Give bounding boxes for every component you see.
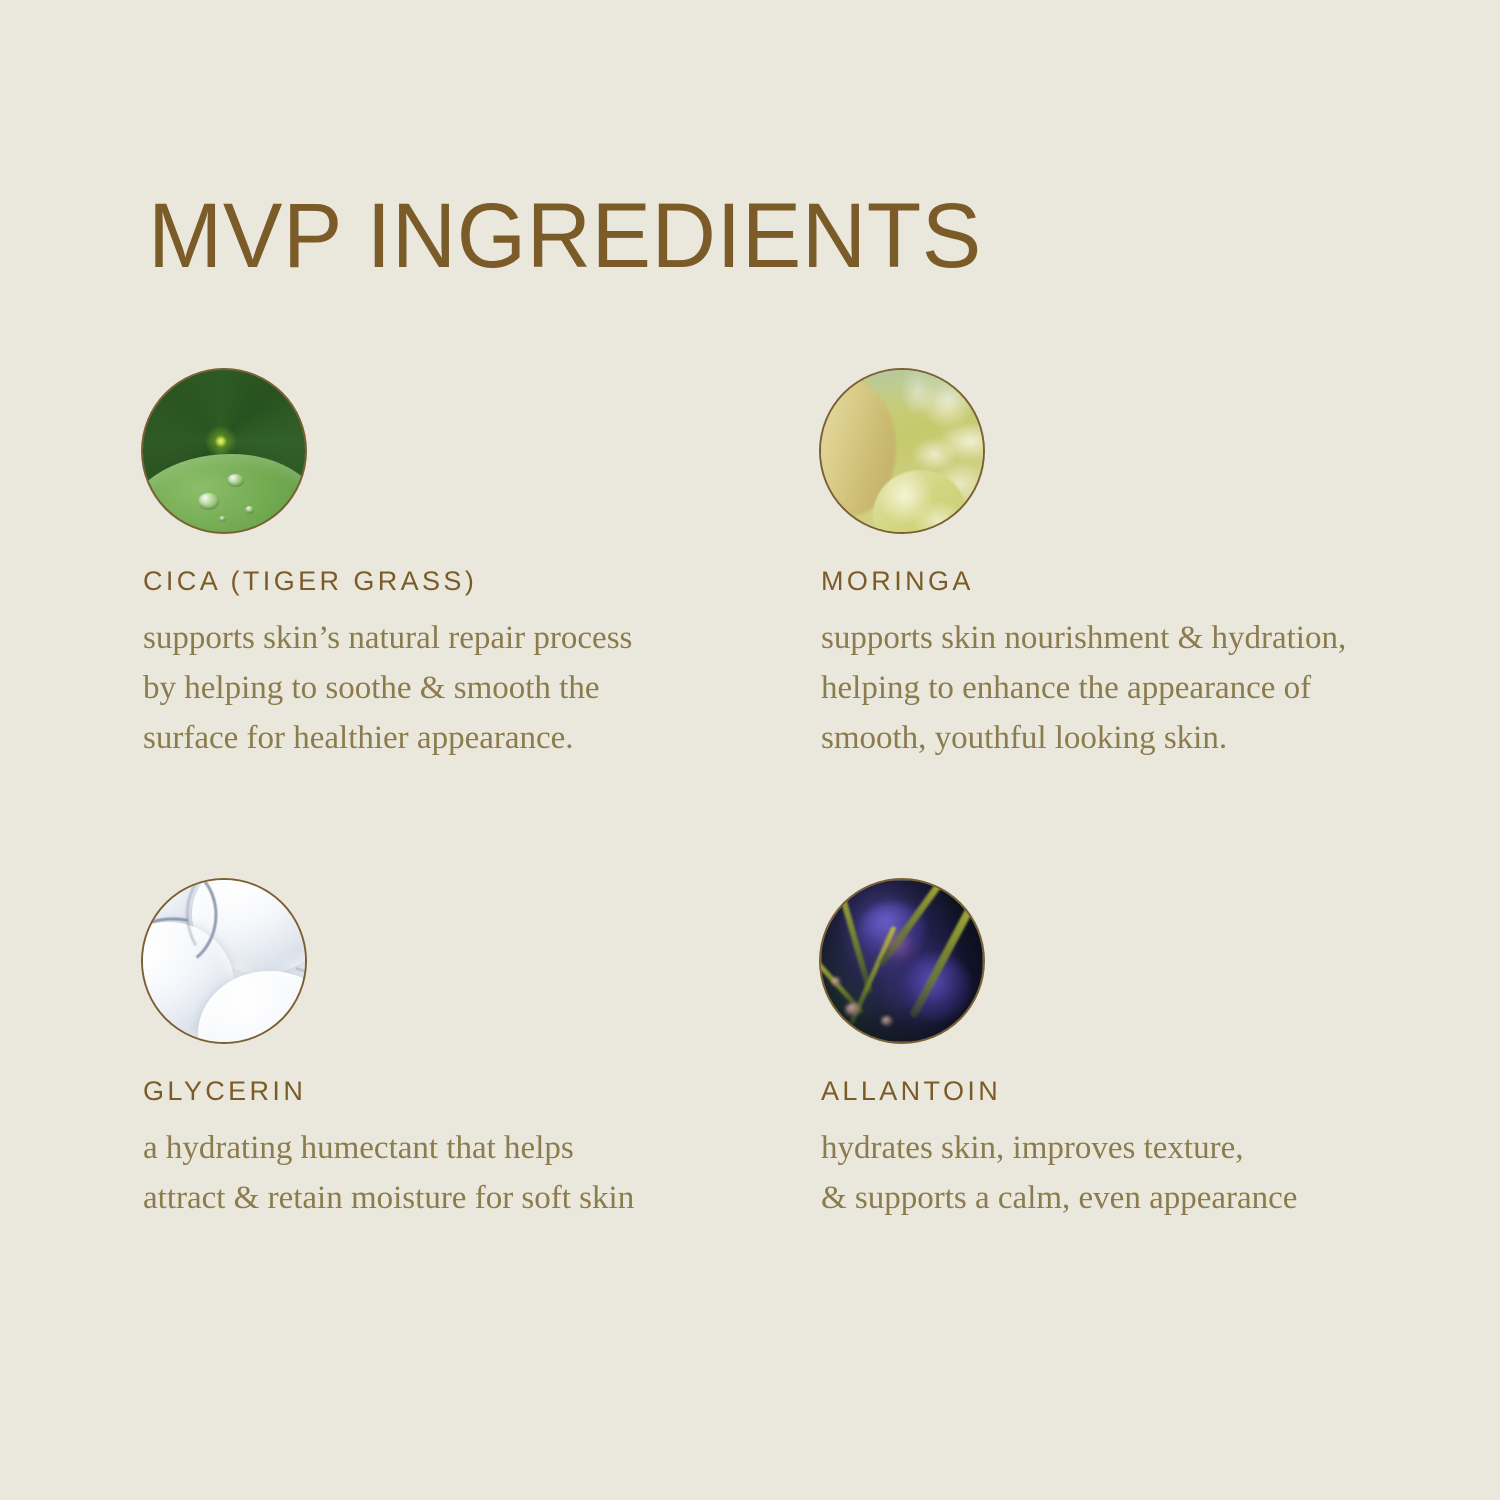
centella-leaf-photo [143,370,305,532]
ingredient-name-glycerin: GLYCERIN [143,1076,803,1107]
ingredients-infographic: MVP INGREDIENTS CICA (TIGER GRASS) suppo… [0,0,1500,1500]
ingredient-card-allantoin: ALLANTOIN hydrates skin, improves textur… [821,880,1481,1223]
ingredients-grid: CICA (TIGER GRASS) supports skin’s natur… [0,0,1500,1500]
glycerin-gel-photo [143,880,305,1042]
ingredient-name-moringa: MORINGA [821,566,1481,597]
ingredient-description-moringa: supports skin nourishment & hydration, h… [821,613,1461,763]
ingredient-card-glycerin: GLYCERIN a hydrating humectant that help… [143,880,803,1223]
ingredient-description-allantoin: hydrates skin, improves texture, & suppo… [821,1123,1461,1223]
ingredient-description-glycerin: a hydrating humectant that helps attract… [143,1123,763,1223]
ingredient-description-cica: supports skin’s natural repair process b… [143,613,763,763]
comfrey-flower-photo [821,880,983,1042]
ingredient-name-cica: CICA (TIGER GRASS) [143,566,803,597]
ingredient-card-cica: CICA (TIGER GRASS) supports skin’s natur… [143,370,803,763]
moringa-pods-photo [821,370,983,532]
ingredient-name-allantoin: ALLANTOIN [821,1076,1481,1107]
ingredient-card-moringa: MORINGA supports skin nourishment & hydr… [821,370,1481,763]
